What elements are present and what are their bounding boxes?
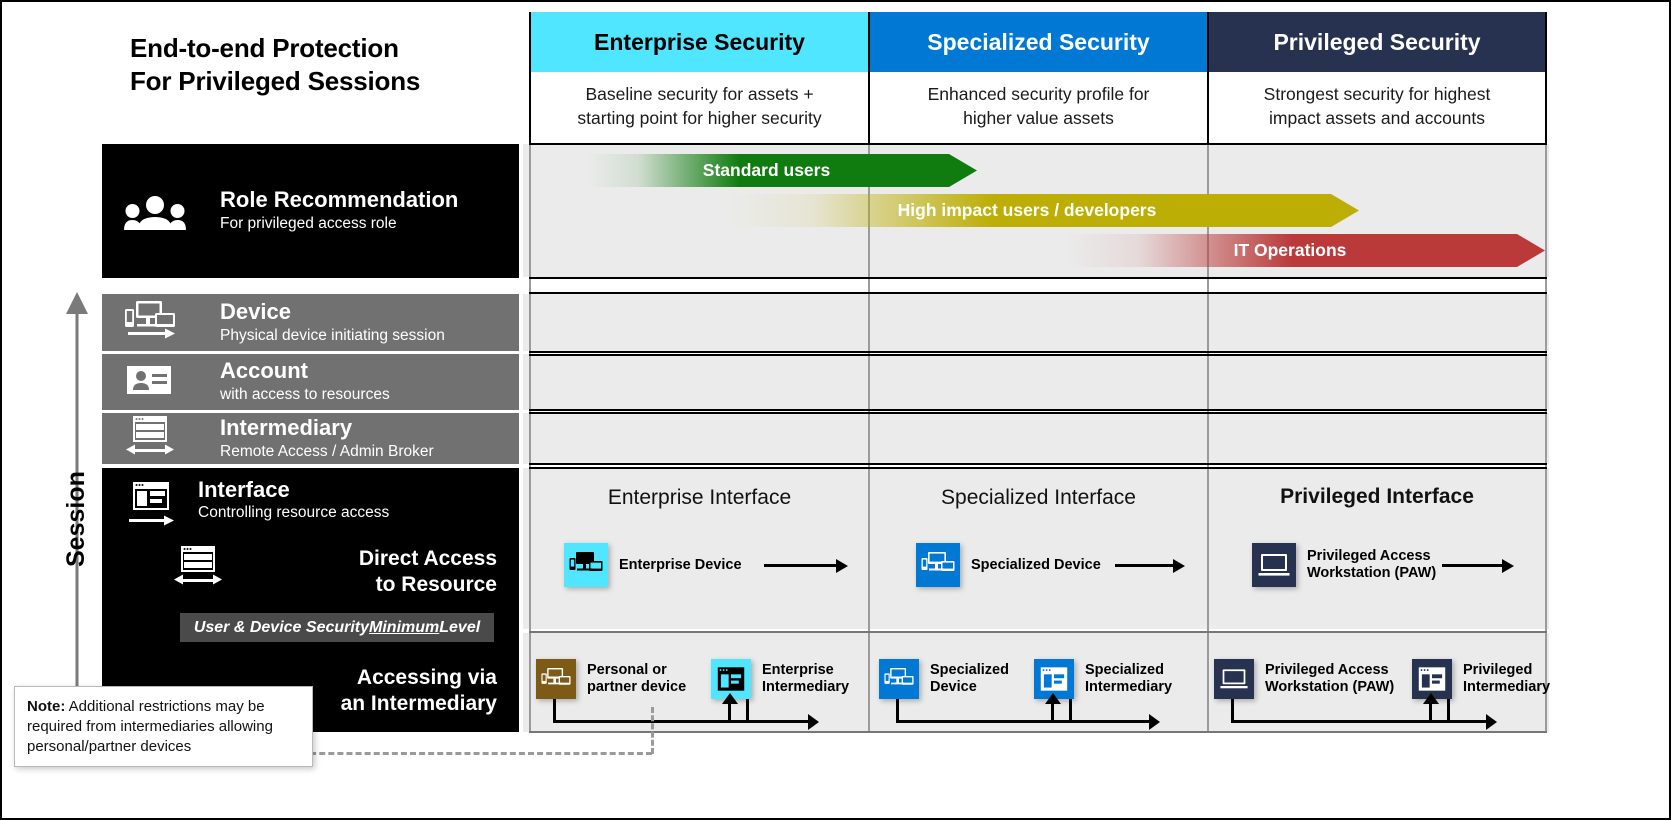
via-connector-privileged-intermediary-down bbox=[1447, 699, 1450, 723]
role-arrow-it-operations: IT Operations bbox=[1067, 234, 1545, 267]
grid-vline-col2 bbox=[1207, 12, 1209, 146]
laptop-icon bbox=[1214, 659, 1254, 699]
via-connector-enterprise-right-arrowhead bbox=[808, 714, 819, 730]
column-title-enterprise: Enterprise Security bbox=[531, 12, 868, 72]
grid-hline-interface-top bbox=[529, 467, 1547, 469]
via-connector-specialized-intermediary-down bbox=[1069, 699, 1072, 723]
via-connector-privileged-up-stem bbox=[1429, 702, 1432, 723]
row-subtitle-account: with access to resources bbox=[220, 385, 390, 404]
row-title-interface: Interface bbox=[198, 478, 389, 502]
row-subtitle-device: Physical device initiating session bbox=[220, 326, 445, 345]
column-title-specialized: Specialized Security bbox=[870, 12, 1207, 72]
interface-text-block: Interface Controlling resource access bbox=[198, 478, 389, 522]
via-connector-privileged-up-arrowhead bbox=[1423, 693, 1439, 704]
via-intermediary-label-specialized: Specialized Intermediary bbox=[1085, 662, 1172, 696]
note-connector-dashed-vertical bbox=[651, 707, 654, 754]
via-device-tile-privileged: Privileged Access Workstation (PAW) bbox=[1214, 659, 1394, 699]
device-icon bbox=[536, 659, 576, 699]
grid-hline-role-bottom bbox=[529, 277, 1547, 279]
row-title-account: Account bbox=[220, 359, 390, 383]
laptop-icon bbox=[1252, 543, 1296, 587]
cell-bg-account bbox=[523, 354, 1549, 410]
cell-bg-device bbox=[523, 294, 1549, 351]
min-level-suffix: Level bbox=[439, 619, 480, 637]
grid-hline-device-top bbox=[529, 292, 1547, 294]
direct-access-arrow-enterprise bbox=[764, 564, 838, 567]
direct-access-arrow-privileged bbox=[1442, 564, 1504, 567]
device-icon bbox=[879, 659, 919, 699]
via-connector-specialized-right-arrowhead bbox=[1149, 714, 1160, 730]
via-connector-enterprise-intermediary-down bbox=[746, 699, 749, 723]
column-title-privileged: Privileged Security bbox=[1209, 12, 1545, 72]
grid-vline-col0 bbox=[529, 12, 531, 146]
direct-access-tile-privileged: Privileged Access Workstation (PAW) bbox=[1252, 543, 1436, 587]
direct-access-arrowhead-specialized bbox=[1173, 559, 1185, 573]
grid-vline-body2 bbox=[1207, 144, 1209, 732]
direct-access-arrowhead-enterprise bbox=[836, 559, 848, 573]
direct-access-heading-privileged: Privileged Interface bbox=[1209, 485, 1545, 509]
note-callout: Note: Additional restrictions may be req… bbox=[14, 686, 313, 767]
grid-hline-intermediary-top bbox=[529, 412, 1547, 414]
accessing-via-intermediary-label: Accessing via an Intermediary bbox=[341, 665, 497, 716]
row-title-device: Device bbox=[220, 300, 445, 324]
role-arrow-label-standard-users: Standard users bbox=[588, 160, 949, 181]
row-title-role: Role Recommendation bbox=[220, 188, 458, 212]
grid-hline-via-top bbox=[529, 631, 1547, 633]
column-header-specialized: Specialized Security bbox=[870, 12, 1207, 72]
grid-vline-col1 bbox=[868, 12, 870, 146]
role-arrow-label-it-operations: IT Operations bbox=[1067, 240, 1517, 261]
interface-window-icon bbox=[124, 480, 176, 533]
grid-hline-via-bottom bbox=[529, 731, 1547, 733]
row-label-intermediary: Intermediary Remote Access / Admin Broke… bbox=[102, 413, 519, 464]
page-title: End-to-end Protection For Privileged Ses… bbox=[130, 32, 530, 99]
people-icon bbox=[124, 196, 186, 235]
account-card-icon bbox=[124, 362, 176, 403]
grid-hline-intermediary-bottom bbox=[529, 463, 1547, 465]
direct-access-label: Direct Access to Resource bbox=[359, 546, 497, 597]
column-header-enterprise: Enterprise Security bbox=[531, 12, 868, 72]
column-subtitle-enterprise: Baseline security for assets + starting … bbox=[531, 76, 868, 138]
grid-vline-body1 bbox=[868, 144, 870, 732]
direct-access-heading-enterprise: Enterprise Interface bbox=[531, 486, 868, 510]
note-bold-prefix: Note: bbox=[27, 698, 65, 715]
grid-hline-account-top bbox=[529, 354, 1547, 356]
via-intermediary-label-enterprise: Enterprise Intermediary bbox=[762, 662, 849, 696]
session-axis-label: Session bbox=[62, 471, 91, 567]
via-connector-enterprise-up-arrowhead bbox=[722, 693, 738, 704]
via-intermediary-label-privileged: Privileged Intermediary bbox=[1463, 662, 1550, 696]
direct-access-arrowhead-privileged bbox=[1502, 559, 1514, 573]
via-device-label-enterprise: Personal or partner device bbox=[587, 662, 686, 696]
direct-access-heading-specialized: Specialized Interface bbox=[870, 486, 1207, 510]
via-connector-privileged-right-arrowhead bbox=[1486, 714, 1497, 730]
via-connector-specialized-up-stem bbox=[1051, 702, 1054, 723]
device-icon bbox=[916, 543, 960, 587]
role-arrow-standard-users: Standard users bbox=[588, 154, 977, 187]
grid-vline-body3 bbox=[1545, 144, 1547, 732]
grid-hline-account-bottom bbox=[529, 409, 1547, 411]
direct-access-arrow-specialized bbox=[1115, 564, 1175, 567]
diagram-canvas: End-to-end Protection For Privileged Ses… bbox=[0, 0, 1671, 820]
min-level-underlined: Minimum bbox=[369, 619, 439, 637]
row-label-role: Role Recommendation For privileged acces… bbox=[102, 144, 519, 278]
via-connector-specialized-horizontal bbox=[896, 720, 1152, 723]
grid-hline-role-top bbox=[529, 143, 1547, 145]
cell-bg-intermediary bbox=[523, 413, 1549, 464]
row-title-intermediary: Intermediary bbox=[220, 416, 434, 440]
grid-vline-col3 bbox=[1545, 12, 1547, 146]
grid-hline-device-bottom bbox=[529, 351, 1547, 353]
min-security-level-badge: User & Device Security Minimum Level bbox=[180, 613, 494, 642]
via-device-tile-enterprise: Personal or partner device bbox=[536, 659, 686, 699]
via-device-label-specialized: Specialized Device bbox=[930, 662, 1009, 696]
direct-access-device-label-enterprise: Enterprise Device bbox=[619, 557, 742, 574]
role-arrow-label-high-impact-users: High impact users / developers bbox=[727, 200, 1331, 221]
row-label-account: Account with access to resources bbox=[102, 354, 519, 410]
row-subtitle-role: For privileged access role bbox=[220, 214, 458, 233]
direct-access-icon bbox=[172, 544, 224, 595]
via-connector-specialized-up-arrowhead bbox=[1045, 693, 1061, 704]
column-header-privileged: Privileged Security bbox=[1209, 12, 1545, 72]
via-device-tile-specialized: Specialized Device bbox=[879, 659, 1009, 699]
via-connector-enterprise-up-stem bbox=[728, 702, 731, 723]
direct-access-device-label-privileged: Privileged Access Workstation (PAW) bbox=[1307, 548, 1436, 582]
via-connector-enterprise-horizontal bbox=[553, 720, 811, 723]
min-level-prefix: User & Device Security bbox=[194, 619, 369, 637]
direct-access-tile-specialized: Specialized Device bbox=[916, 543, 1101, 587]
direct-access-device-label-specialized: Specialized Device bbox=[971, 557, 1101, 574]
row-subtitle-interface: Controlling resource access bbox=[198, 504, 389, 522]
via-connector-privileged-horizontal bbox=[1231, 720, 1489, 723]
intermediary-window-icon bbox=[124, 414, 176, 463]
note-connector-dashed-horizontal bbox=[292, 752, 652, 755]
device-icon bbox=[564, 543, 608, 587]
direct-access-tile-enterprise: Enterprise Device bbox=[564, 543, 742, 587]
device-icon bbox=[124, 299, 176, 346]
via-device-label-privileged: Privileged Access Workstation (PAW) bbox=[1265, 662, 1394, 696]
role-arrow-high-impact-users: High impact users / developers bbox=[727, 194, 1359, 227]
grid-vline-body0 bbox=[529, 144, 531, 732]
column-subtitle-privileged: Strongest security for highest impact as… bbox=[1209, 76, 1545, 138]
column-subtitle-specialized: Enhanced security profile for higher val… bbox=[870, 76, 1207, 138]
row-subtitle-intermediary: Remote Access / Admin Broker bbox=[220, 442, 434, 461]
row-label-device: Device Physical device initiating sessio… bbox=[102, 294, 519, 351]
